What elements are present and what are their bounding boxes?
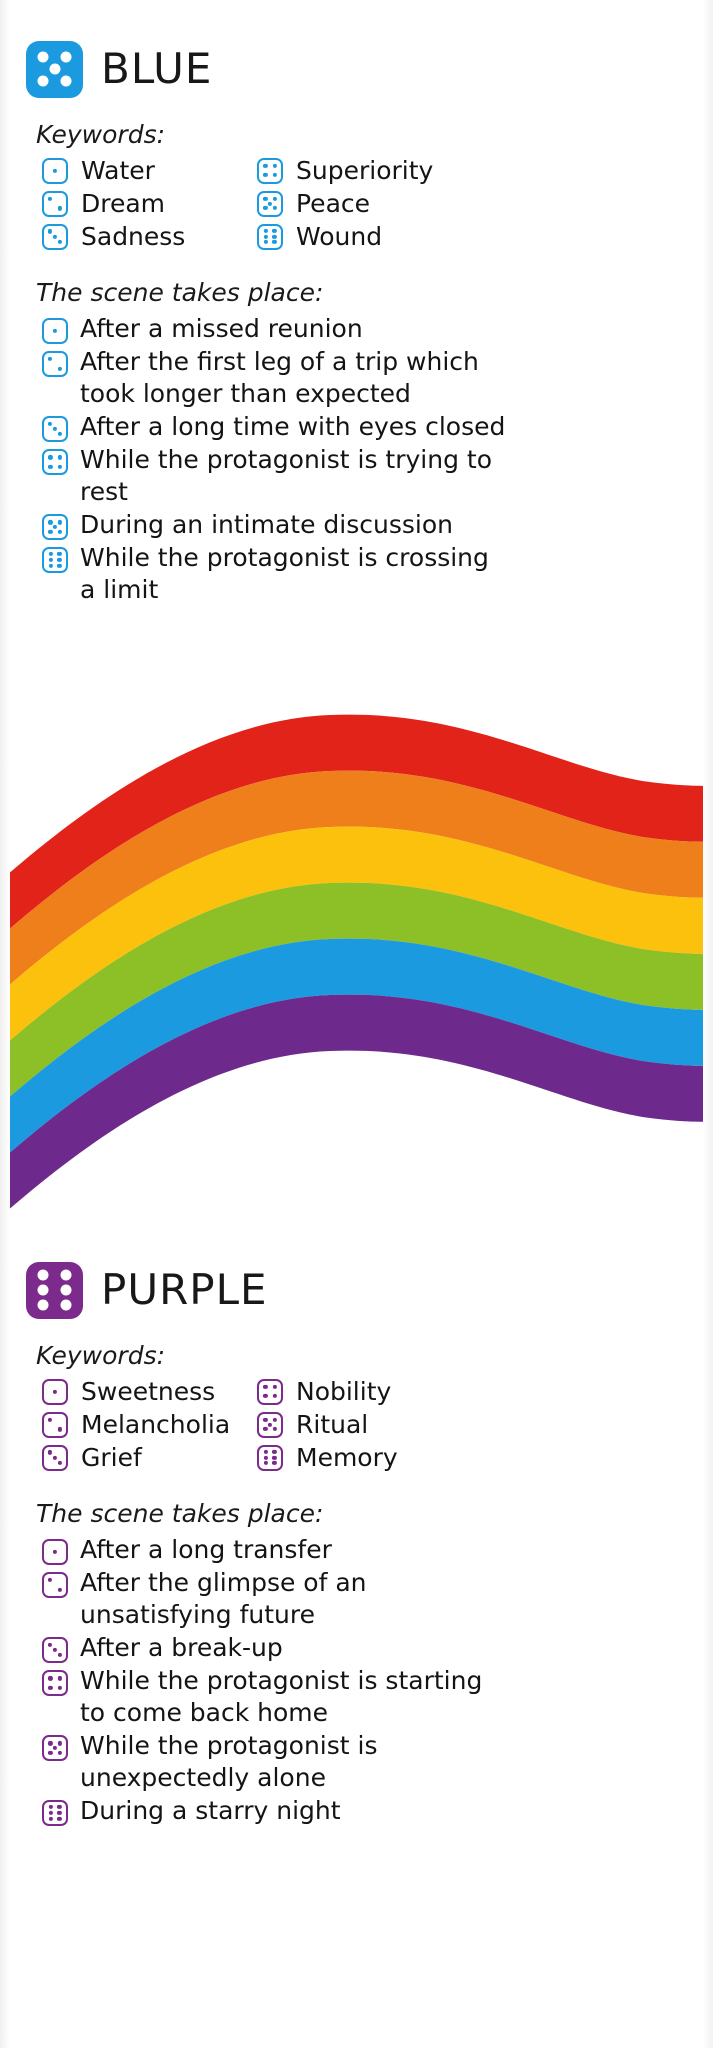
header-die-face-6-icon xyxy=(26,1262,83,1319)
die-pip xyxy=(273,197,277,201)
scene-item: While the protagonist is unexpectedly al… xyxy=(42,1730,687,1794)
scene-item: After the first leg of a trip which took… xyxy=(42,346,687,410)
section-header-blue: BLUE xyxy=(26,34,687,104)
die-pip xyxy=(263,206,267,210)
die-pip xyxy=(57,1805,61,1809)
keywords-label-blue: Keywords: xyxy=(36,120,687,149)
keywords-grid-purple: SweetnessNobilityMelancholiaRitualGriefM… xyxy=(42,1376,687,1473)
die-pip xyxy=(48,520,52,524)
die-pip xyxy=(268,201,272,205)
rainbow-band-red xyxy=(0,715,713,946)
die-pip xyxy=(48,1676,52,1680)
die-pip xyxy=(273,1394,277,1398)
keyword-label: Superiority xyxy=(296,158,433,183)
die-pip xyxy=(58,1460,62,1464)
die-face-6-icon xyxy=(42,1800,68,1826)
scene-item: After a missed reunion xyxy=(42,313,687,345)
die-pip xyxy=(263,1427,267,1431)
scene-list-purple: After a long transferAfter the glimpse o… xyxy=(42,1534,687,1827)
die-pip xyxy=(48,1643,52,1647)
die-face-1-icon xyxy=(42,158,68,184)
die-face-6-icon xyxy=(257,224,283,250)
die-pip xyxy=(48,455,52,459)
die-pip xyxy=(61,52,72,63)
scene-text: While the protagonist is crossing a limi… xyxy=(80,542,510,606)
section-purple: PURPLE Keywords: SweetnessNobilityMelanc… xyxy=(0,1255,713,1828)
die-pip xyxy=(48,229,52,233)
die-pip xyxy=(272,234,276,238)
keyword-item: Sweetness xyxy=(42,1376,257,1407)
die-pip xyxy=(58,1741,62,1745)
die-pip xyxy=(53,1550,57,1554)
die-pip xyxy=(49,1811,53,1815)
die-face-6-icon xyxy=(42,547,68,573)
die-pip xyxy=(60,1270,71,1281)
scene-item: After a long transfer xyxy=(42,1534,687,1566)
die-pip xyxy=(273,1418,277,1422)
keyword-item: Peace xyxy=(257,188,687,219)
die-face-2-icon xyxy=(42,191,68,217)
keywords-grid-blue: WaterSuperiorityDreamPeaceSadnessWound xyxy=(42,155,687,252)
rainbow-band-yellow xyxy=(0,827,713,1058)
die-pip xyxy=(58,465,62,469)
section-title-purple: PURPLE xyxy=(101,1269,268,1311)
die-pip xyxy=(58,367,62,371)
die-face-1-icon xyxy=(42,1379,68,1405)
die-pip xyxy=(53,1648,57,1652)
die-face-6-icon xyxy=(257,1445,283,1471)
die-pip xyxy=(48,422,52,426)
die-pip xyxy=(49,564,53,568)
scene-list-blue: After a missed reunionAfter the first le… xyxy=(42,313,687,606)
scene-text: After the first leg of a trip which took… xyxy=(80,346,510,410)
die-face-1-icon xyxy=(42,1539,68,1565)
scene-text: After a break-up xyxy=(80,1632,283,1664)
die-pip xyxy=(272,229,276,233)
die-pip xyxy=(37,75,48,86)
die-pip xyxy=(38,1299,49,1310)
die-pip xyxy=(48,1418,52,1422)
keyword-label: Water xyxy=(81,158,155,183)
keyword-item: Sadness xyxy=(42,221,257,252)
scene-text: During an intimate discussion xyxy=(80,509,453,541)
reference-card-page: BLUE Keywords: WaterSuperiorityDreamPeac… xyxy=(0,0,713,2048)
header-die-face-5-icon xyxy=(26,41,83,98)
scene-text: After the glimpse of an unsatisfying fut… xyxy=(80,1567,510,1631)
die-face-2-icon xyxy=(42,351,68,377)
die-pip xyxy=(48,1578,52,1582)
die-pip xyxy=(58,1751,62,1755)
die-pip xyxy=(57,558,61,562)
scene-item: During an intimate discussion xyxy=(42,509,687,541)
scene-item: After a break-up xyxy=(42,1632,687,1664)
keyword-item: Ritual xyxy=(257,1409,687,1440)
keyword-item: Nobility xyxy=(257,1376,687,1407)
die-pip xyxy=(58,1653,62,1657)
die-pip xyxy=(58,432,62,436)
keyword-item: Melancholia xyxy=(42,1409,257,1440)
rainbow-band-blue xyxy=(0,939,713,1170)
rainbow-band-orange xyxy=(0,771,713,1002)
die-pip xyxy=(263,1394,267,1398)
scene-text: While the protagonist is starting to com… xyxy=(80,1665,510,1729)
die-pip xyxy=(60,1299,71,1310)
die-pip xyxy=(48,357,52,361)
die-pip xyxy=(48,1741,52,1745)
die-pip xyxy=(263,1418,267,1422)
die-pip xyxy=(272,1450,276,1454)
die-pip xyxy=(272,240,276,244)
die-pip xyxy=(53,1389,57,1393)
die-pip xyxy=(53,1746,57,1750)
die-face-1-icon xyxy=(42,318,68,344)
die-pip xyxy=(58,1686,62,1690)
die-pip xyxy=(57,1811,61,1815)
die-pip xyxy=(53,168,57,172)
scene-item: After a long time with eyes closed xyxy=(42,411,687,443)
die-pip xyxy=(49,1817,53,1821)
die-pip xyxy=(48,530,52,534)
keyword-label: Sadness xyxy=(81,224,185,249)
die-face-5-icon xyxy=(42,514,68,540)
die-pip xyxy=(48,1686,52,1690)
die-pip xyxy=(38,1270,49,1281)
keyword-item: Wound xyxy=(257,221,687,252)
scene-text: After a missed reunion xyxy=(80,313,363,345)
die-pip xyxy=(57,552,61,556)
die-pip xyxy=(53,234,57,238)
scene-text: After a long time with eyes closed xyxy=(80,411,505,443)
die-pip xyxy=(37,52,48,63)
section-header-purple: PURPLE xyxy=(26,1255,687,1325)
die-pip xyxy=(58,1427,62,1431)
keyword-item: Dream xyxy=(42,188,257,219)
rainbow-bands xyxy=(0,715,713,1226)
scene-item: While the protagonist is crossing a limi… xyxy=(42,542,687,606)
section-blue: BLUE Keywords: WaterSuperiorityDreamPeac… xyxy=(0,34,713,607)
die-pip xyxy=(49,552,53,556)
keyword-label: Grief xyxy=(81,1445,142,1470)
die-pip xyxy=(48,1751,52,1755)
scene-text: After a long transfer xyxy=(80,1534,332,1566)
die-pip xyxy=(263,1385,267,1389)
keyword-item: Memory xyxy=(257,1442,687,1473)
die-face-5-icon xyxy=(257,1412,283,1438)
die-face-2-icon xyxy=(42,1412,68,1438)
die-pip xyxy=(264,240,268,244)
die-pip xyxy=(263,173,267,177)
die-pip xyxy=(49,64,60,75)
scene-item: While the protagonist is trying to rest xyxy=(42,444,687,508)
die-pip xyxy=(57,1817,61,1821)
die-pip xyxy=(264,1461,268,1465)
die-pip xyxy=(273,173,277,177)
keyword-item: Grief xyxy=(42,1442,257,1473)
keyword-item: Water xyxy=(42,155,257,186)
die-pip xyxy=(58,530,62,534)
keyword-label: Nobility xyxy=(296,1379,391,1404)
die-pip xyxy=(38,1285,49,1296)
die-pip xyxy=(58,1588,62,1592)
die-pip xyxy=(268,1422,272,1426)
die-face-4-icon xyxy=(42,449,68,475)
die-pip xyxy=(264,229,268,233)
die-pip xyxy=(273,164,277,168)
die-pip xyxy=(48,465,52,469)
scene-label-blue: The scene takes place: xyxy=(36,278,687,307)
die-pip xyxy=(53,525,57,529)
die-face-3-icon xyxy=(42,224,68,250)
keyword-label: Sweetness xyxy=(81,1379,215,1404)
rainbow-band-purple xyxy=(0,995,713,1226)
die-pip xyxy=(58,206,62,210)
keyword-label: Wound xyxy=(296,224,382,249)
keyword-label: Ritual xyxy=(296,1412,368,1437)
die-pip xyxy=(58,239,62,243)
die-pip xyxy=(49,1805,53,1809)
die-face-5-icon xyxy=(257,191,283,217)
scene-text: During a starry night xyxy=(80,1795,341,1827)
die-pip xyxy=(272,1455,276,1459)
die-face-5-icon xyxy=(42,1735,68,1761)
keyword-label: Dream xyxy=(81,191,165,216)
die-pip xyxy=(58,520,62,524)
die-face-4-icon xyxy=(42,1670,68,1696)
scene-item: While the protagonist is starting to com… xyxy=(42,1665,687,1729)
die-pip xyxy=(61,75,72,86)
die-pip xyxy=(53,1455,57,1459)
die-face-2-icon xyxy=(42,1572,68,1598)
die-pip xyxy=(53,427,57,431)
scene-text: While the protagonist is trying to rest xyxy=(80,444,510,508)
rainbow-band-green xyxy=(0,883,713,1114)
die-pip xyxy=(264,234,268,238)
die-pip xyxy=(273,206,277,210)
die-face-3-icon xyxy=(42,1445,68,1471)
die-pip xyxy=(57,564,61,568)
scene-text: While the protagonist is unexpectedly al… xyxy=(80,1730,510,1794)
die-pip xyxy=(273,1427,277,1431)
scene-label-purple: The scene takes place: xyxy=(36,1499,687,1528)
die-face-3-icon xyxy=(42,416,68,442)
die-pip xyxy=(264,1450,268,1454)
die-pip xyxy=(263,164,267,168)
die-pip xyxy=(58,455,62,459)
die-face-4-icon xyxy=(257,158,283,184)
die-face-3-icon xyxy=(42,1637,68,1663)
die-face-4-icon xyxy=(257,1379,283,1405)
die-pip xyxy=(53,329,57,333)
die-pip xyxy=(272,1461,276,1465)
die-pip xyxy=(48,1450,52,1454)
keyword-label: Melancholia xyxy=(81,1412,230,1437)
section-title-blue: BLUE xyxy=(101,48,212,90)
scene-item: After the glimpse of an unsatisfying fut… xyxy=(42,1567,687,1631)
keyword-label: Peace xyxy=(296,191,370,216)
die-pip xyxy=(263,197,267,201)
die-pip xyxy=(60,1285,71,1296)
die-pip xyxy=(58,1676,62,1680)
scene-item: During a starry night xyxy=(42,1795,687,1827)
die-pip xyxy=(49,558,53,562)
keywords-label-purple: Keywords: xyxy=(36,1341,687,1370)
keyword-label: Memory xyxy=(296,1445,398,1470)
die-pip xyxy=(273,1385,277,1389)
die-pip xyxy=(264,1455,268,1459)
keyword-item: Superiority xyxy=(257,155,687,186)
die-pip xyxy=(48,197,52,201)
